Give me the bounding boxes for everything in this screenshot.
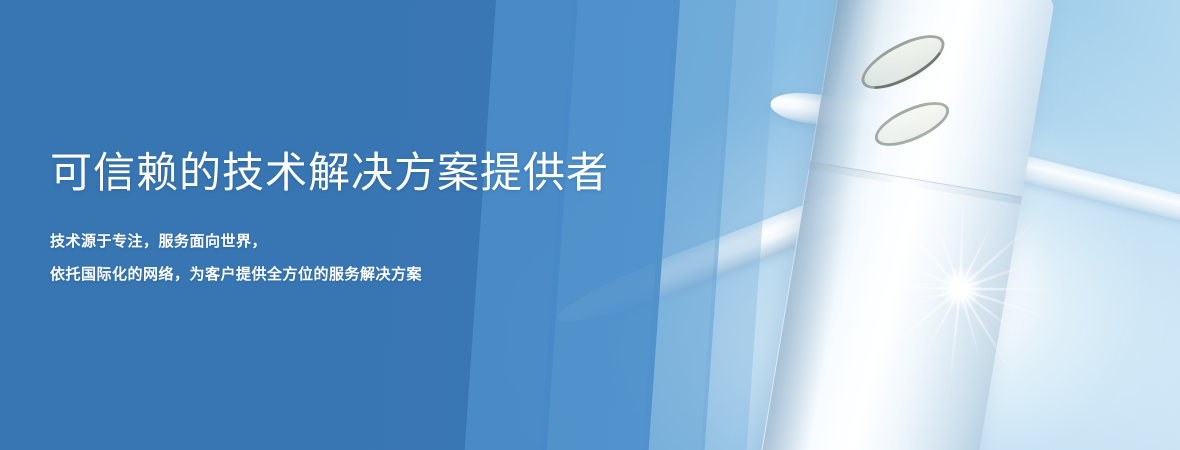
page-title: 可信赖的技术解决方案提供者 xyxy=(50,146,750,200)
subtitle-line-1: 技术源于专注，服务面向世界， xyxy=(50,225,750,258)
subtitle-line-2: 依托国际化的网络，为客户提供全方位的服务解决方案 xyxy=(50,258,750,291)
hero-subtitle: 技术源于专注，服务面向世界， 依托国际化的网络，为客户提供全方位的服务解决方案 xyxy=(50,225,750,291)
sun-starburst-icon xyxy=(938,266,982,310)
hero-banner: 可信赖的技术解决方案提供者 技术源于专注，服务面向世界， 依托国际化的网络，为客… xyxy=(0,0,1180,450)
hero-copy-block: 可信赖的技术解决方案提供者 技术源于专注，服务面向世界， 依托国际化的网络，为客… xyxy=(50,146,750,291)
